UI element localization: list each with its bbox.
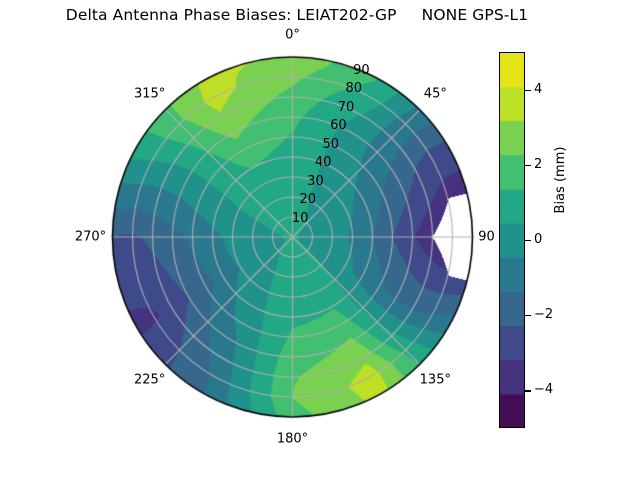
- colorbar-tick-mark: [525, 165, 531, 166]
- radial-tick-70: 70: [338, 99, 355, 114]
- angular-tick-270: 270°: [75, 230, 106, 245]
- radial-tick-40: 40: [315, 155, 332, 170]
- colorbar-tick-label: 2: [534, 157, 542, 172]
- radial-tick-50: 50: [322, 136, 339, 151]
- colorbar-tick-mark: [525, 390, 531, 391]
- angular-tick-135: 135°: [420, 372, 451, 387]
- radial-tick-10: 10: [292, 210, 309, 225]
- colorbar-tick-label: 4: [534, 82, 542, 97]
- radial-tick-30: 30: [307, 173, 324, 188]
- colorbar-tick-label: −2: [534, 307, 553, 322]
- colorbar-frame: [499, 52, 525, 428]
- radial-tick-90: 90: [353, 62, 370, 77]
- colorbar-tick-label: −4: [534, 382, 553, 397]
- colorbar-axis-label: Bias (mm): [553, 147, 568, 214]
- radial-tick-80: 80: [345, 81, 362, 96]
- colorbar-tick-mark: [525, 90, 531, 91]
- radial-tick-60: 60: [330, 118, 347, 133]
- colorbar-tick-mark: [525, 240, 531, 241]
- angular-tick-180: 180°: [277, 432, 308, 447]
- angular-tick-315: 315°: [134, 87, 165, 102]
- angular-tick-0: 0°: [285, 28, 300, 43]
- colorbar-tick-label: 0: [534, 232, 542, 247]
- angular-tick-45: 45°: [424, 87, 447, 102]
- colorbar-tick-mark: [525, 315, 531, 316]
- colorbar: [499, 52, 525, 428]
- figure-root: Delta Antenna Phase Biases: LEIAT202-GP …: [0, 0, 640, 480]
- radial-tick-20: 20: [300, 192, 317, 207]
- angular-tick-225: 225°: [134, 372, 165, 387]
- angular-tick-90: 90: [478, 230, 495, 245]
